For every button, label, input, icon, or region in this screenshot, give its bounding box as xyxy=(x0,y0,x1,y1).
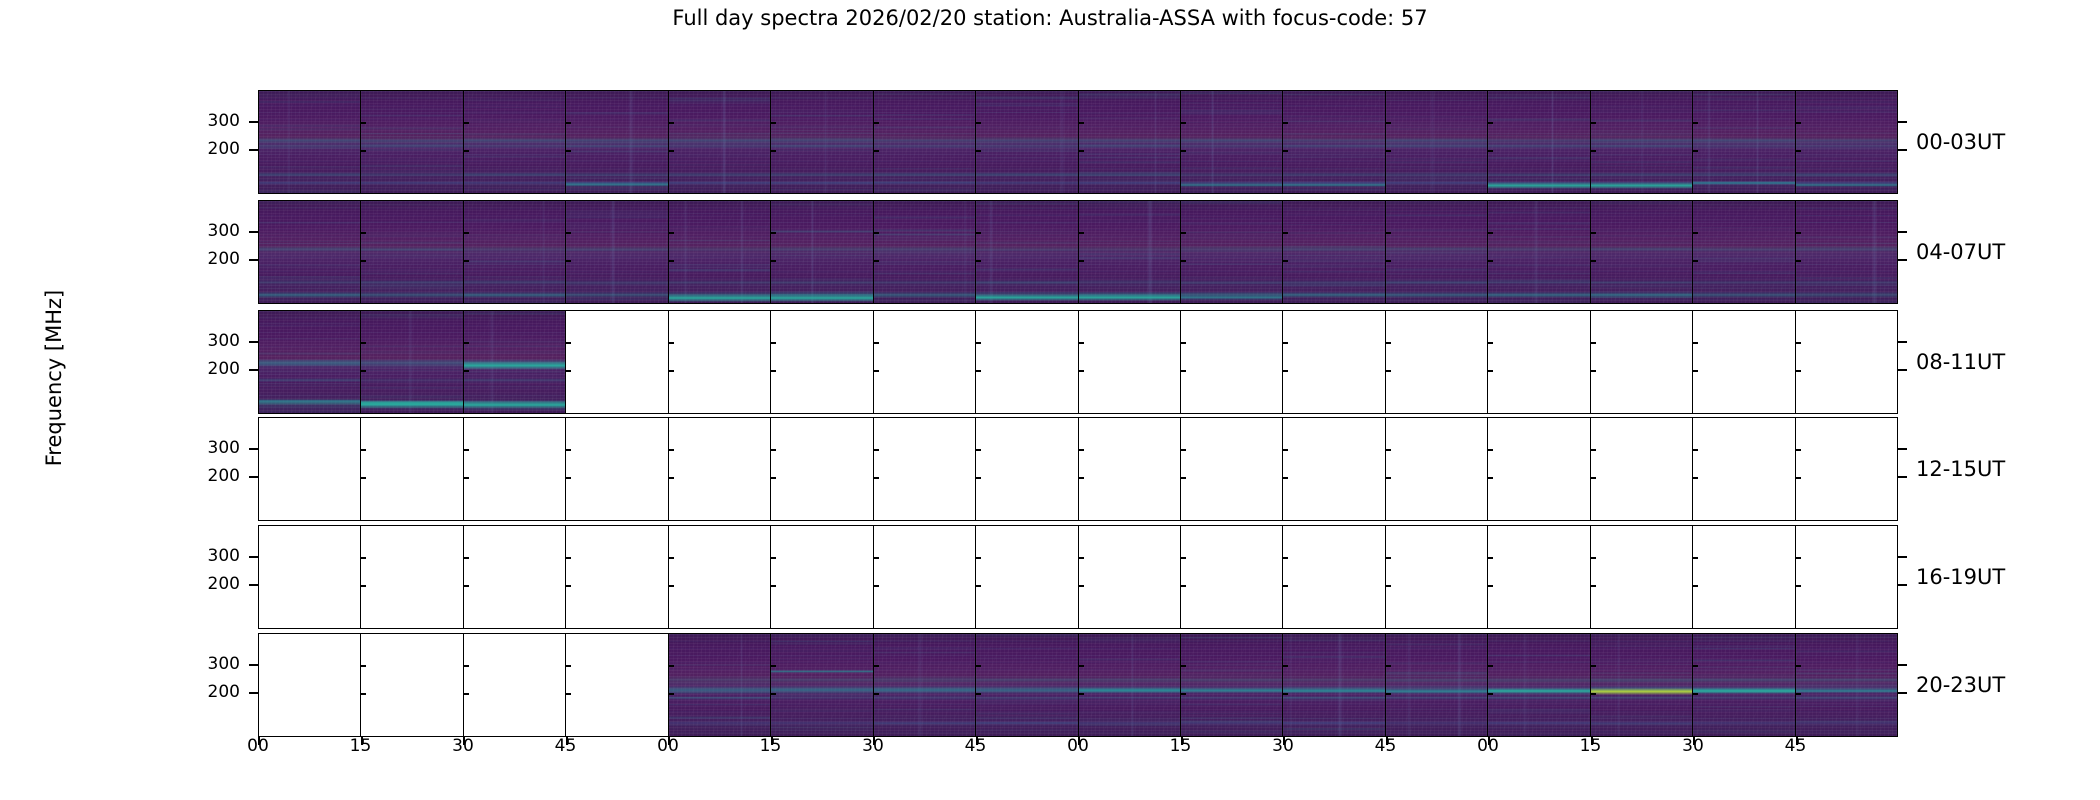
noise-band xyxy=(1796,274,1897,277)
y-tick-inner xyxy=(1283,122,1288,124)
spectrogram-panel xyxy=(1283,634,1385,736)
noise-band xyxy=(1181,703,1282,706)
noise-band xyxy=(669,124,770,126)
y-tick-inner xyxy=(1283,449,1288,451)
y-tick-label: 200 xyxy=(186,249,240,269)
y-tick-inner xyxy=(874,665,879,667)
noise-band xyxy=(1488,701,1589,703)
noise-band xyxy=(874,635,975,638)
noise-band xyxy=(1181,730,1282,732)
y-tick-inner xyxy=(1693,477,1698,479)
noise-band xyxy=(566,216,667,218)
emission-band xyxy=(361,359,462,367)
noise-band xyxy=(464,188,565,191)
noise-band xyxy=(1283,105,1384,107)
emission-band xyxy=(464,280,565,285)
noise-band xyxy=(259,410,360,413)
emission-band xyxy=(1181,280,1282,285)
noise-band xyxy=(1181,218,1282,219)
noise-band xyxy=(259,370,360,373)
x-tick-label: 30 xyxy=(862,736,884,756)
emission-band xyxy=(1796,172,1897,177)
noise-band xyxy=(669,664,770,666)
noise-band xyxy=(1283,94,1384,96)
y-tick-inner xyxy=(976,477,981,479)
spectrogram-panel xyxy=(566,526,668,628)
emission-band xyxy=(874,721,975,725)
noise-band xyxy=(874,126,975,129)
emission-band xyxy=(1079,144,1180,148)
noise-band xyxy=(771,121,872,122)
noise-band xyxy=(1693,219,1794,221)
noise-band xyxy=(1386,268,1487,271)
noise-band xyxy=(259,95,360,97)
noise-band xyxy=(464,238,565,240)
noise-band xyxy=(566,177,667,179)
noise-band xyxy=(1693,706,1794,708)
emission-band xyxy=(1283,677,1384,683)
noise-band xyxy=(464,375,565,377)
noise-band xyxy=(259,325,360,327)
spectrogram-panel xyxy=(1693,526,1795,628)
row-label-6: 20-23UT xyxy=(1916,673,2005,697)
emission-band xyxy=(976,721,1077,725)
y-tick-inner xyxy=(1591,449,1596,451)
emission-band xyxy=(464,246,565,252)
spectrogram-panel xyxy=(1591,311,1693,413)
spectrogram-panel xyxy=(1693,201,1795,303)
noise-band xyxy=(874,114,975,115)
y-tick-inner xyxy=(1283,370,1288,372)
noise-band xyxy=(464,95,565,97)
y-tick-inner xyxy=(1796,260,1801,262)
noise-band xyxy=(1079,637,1180,638)
y-tick-inner xyxy=(464,150,469,152)
row-axes xyxy=(258,90,1898,194)
y-tick-right xyxy=(1898,341,1907,343)
noise-band xyxy=(1591,638,1692,639)
noise-band xyxy=(1386,643,1487,645)
y-tick-label: 300 xyxy=(186,654,240,674)
spectra-image xyxy=(1693,201,1794,303)
y-tick-inner xyxy=(464,557,469,559)
spectrogram-panel xyxy=(1386,201,1488,303)
noise-band xyxy=(464,155,565,157)
noise-band xyxy=(259,148,360,149)
row-label-1: 00-03UT xyxy=(1916,130,2005,154)
spectrogram-panel xyxy=(259,418,361,520)
emission-band xyxy=(1591,721,1692,725)
noise-band xyxy=(1181,203,1282,204)
y-tick-right xyxy=(1898,476,1907,478)
y-tick-inner xyxy=(1693,370,1698,372)
noise-band xyxy=(669,134,770,136)
y-tick-inner xyxy=(464,370,469,372)
emission-band xyxy=(259,359,360,367)
spectrogram-panel xyxy=(1488,526,1590,628)
noise-band xyxy=(976,657,1077,660)
spectrogram-panel xyxy=(464,418,566,520)
noise-band xyxy=(1488,272,1589,275)
noise-band xyxy=(1693,240,1794,243)
emission-band xyxy=(1283,246,1384,252)
y-tick-inner xyxy=(1079,477,1084,479)
noise-band xyxy=(1283,214,1384,215)
spectrogram-panel xyxy=(771,526,873,628)
spectrogram-panel xyxy=(976,634,1078,736)
y-tick-inner xyxy=(1591,232,1596,234)
y-tick-inner xyxy=(669,477,674,479)
emission-band xyxy=(771,696,872,700)
spectra-image xyxy=(1283,201,1384,303)
noise-band xyxy=(1488,661,1589,663)
spectrogram-panel xyxy=(1181,311,1283,413)
noise-band xyxy=(1796,730,1897,732)
noise-band xyxy=(669,704,770,706)
noise-band xyxy=(464,104,565,105)
emission-band xyxy=(669,280,770,285)
noise-band xyxy=(1591,275,1692,277)
y-tick-inner xyxy=(361,150,366,152)
noise-band xyxy=(1488,256,1589,258)
rfi-streak xyxy=(989,201,993,303)
y-tick-inner xyxy=(1181,370,1186,372)
y-tick-inner xyxy=(1386,665,1391,667)
noise-band xyxy=(566,127,667,129)
noise-band xyxy=(1488,207,1589,208)
noise-band xyxy=(874,109,975,110)
spectrogram-panel xyxy=(464,311,566,413)
spectrogram-panel xyxy=(1591,526,1693,628)
noise-band xyxy=(464,107,565,108)
noise-band xyxy=(1386,128,1487,130)
spectrogram-panel xyxy=(1181,526,1283,628)
y-axis-label: Frequency [MHz] xyxy=(42,228,66,528)
noise-band xyxy=(1283,133,1384,135)
noise-band xyxy=(771,643,872,645)
spectrogram-panel xyxy=(1283,311,1385,413)
burst-feature xyxy=(1283,183,1384,187)
burst-feature xyxy=(464,361,565,370)
noise-band xyxy=(1181,660,1282,663)
emission-band xyxy=(874,280,975,285)
y-tick-inner xyxy=(976,260,981,262)
y-tick-inner xyxy=(361,665,366,667)
y-tick-inner xyxy=(1386,150,1391,152)
noise-band xyxy=(874,133,975,135)
y-tick xyxy=(249,584,258,586)
noise-band xyxy=(1386,166,1487,169)
spectra-image xyxy=(874,91,975,193)
y-tick-inner xyxy=(566,150,571,152)
y-tick-inner xyxy=(1283,693,1288,695)
y-tick-inner xyxy=(566,477,571,479)
y-tick-inner xyxy=(1386,370,1391,372)
noise-band xyxy=(1386,100,1487,101)
spectra-image xyxy=(771,91,872,193)
y-tick-inner xyxy=(874,260,879,262)
spectrogram-panel xyxy=(1796,526,1897,628)
burst-feature xyxy=(566,182,667,187)
noise-band xyxy=(464,113,565,115)
emission-band xyxy=(1488,292,1589,298)
noise-band xyxy=(361,127,462,130)
y-tick-inner xyxy=(874,477,879,479)
y-tick-inner xyxy=(464,260,469,262)
noise-band xyxy=(1079,205,1180,207)
noise-band xyxy=(1488,639,1589,642)
spectrogram-panel xyxy=(669,311,771,413)
noise-band xyxy=(1488,276,1589,278)
noise-band xyxy=(259,353,360,356)
spectrogram-panel xyxy=(1386,311,1488,413)
noise-band xyxy=(1181,111,1282,113)
y-tick-inner xyxy=(1591,557,1596,559)
emission-band xyxy=(464,292,565,298)
y-tick-label: 200 xyxy=(186,359,240,379)
noise-band xyxy=(1386,300,1487,302)
y-tick-label: 300 xyxy=(186,438,240,458)
noise-band xyxy=(771,255,872,256)
rfi-streak xyxy=(542,201,546,303)
emission-band xyxy=(874,246,975,252)
noise-band xyxy=(1796,264,1897,265)
spectrogram-panel xyxy=(1591,418,1693,520)
noise-band xyxy=(1386,162,1487,163)
spectrogram-panel xyxy=(976,201,1078,303)
emission-band xyxy=(1693,696,1794,700)
y-tick-inner xyxy=(361,260,366,262)
emission-band xyxy=(669,172,770,177)
emission-band xyxy=(464,181,565,185)
noise-band xyxy=(464,342,565,344)
spectrogram-panel xyxy=(361,526,463,628)
emission-band xyxy=(259,292,360,298)
spectrogram-row-1: 300200 xyxy=(258,90,1898,194)
noise-band xyxy=(874,190,975,193)
noise-band xyxy=(566,112,667,113)
spectrogram-panel xyxy=(259,91,361,193)
noise-band xyxy=(1693,230,1794,232)
noise-band xyxy=(1488,96,1589,99)
spectra-image xyxy=(771,201,872,303)
noise-band xyxy=(259,241,360,242)
noise-band xyxy=(1488,222,1589,224)
spectra-image xyxy=(1283,91,1384,193)
emission-band xyxy=(1181,172,1282,177)
y-tick-inner xyxy=(1693,693,1698,695)
noise-band xyxy=(361,149,462,152)
emission-band xyxy=(1386,144,1487,148)
noise-band xyxy=(874,118,975,120)
spectrogram-panel xyxy=(464,634,566,736)
spectrogram-panel xyxy=(976,526,1078,628)
spectra-image xyxy=(1591,634,1692,736)
noise-band xyxy=(771,114,872,117)
noise-band xyxy=(1386,235,1487,238)
noise-band xyxy=(771,726,872,729)
noise-band xyxy=(259,207,360,208)
y-tick-right xyxy=(1898,121,1907,123)
emission-band xyxy=(1283,280,1384,285)
noise-band xyxy=(874,708,975,710)
y-tick-inner xyxy=(1079,585,1084,587)
noise-band xyxy=(1079,161,1180,164)
noise-band xyxy=(1488,264,1589,267)
noise-band xyxy=(566,273,667,275)
y-tick-inner xyxy=(464,665,469,667)
noise-band xyxy=(361,165,462,168)
spectrogram-panel xyxy=(1283,91,1385,193)
x-tick-label: 45 xyxy=(965,736,987,756)
burst-feature xyxy=(1386,689,1487,694)
y-tick-inner xyxy=(361,477,366,479)
emission-band xyxy=(669,686,770,694)
spectrogram-panel xyxy=(1488,418,1590,520)
noise-band xyxy=(771,189,872,190)
noise-band xyxy=(1386,273,1487,275)
emission-band xyxy=(1693,172,1794,177)
spectra-image xyxy=(361,311,462,413)
y-tick-inner xyxy=(361,232,366,234)
noise-band xyxy=(1079,241,1180,242)
x-tick-label: 00 xyxy=(247,736,269,756)
spectrogram-panel xyxy=(1386,418,1488,520)
noise-band xyxy=(259,384,360,386)
noise-band xyxy=(464,263,565,265)
burst-feature xyxy=(771,294,872,302)
noise-band xyxy=(361,114,462,116)
y-tick-label: 200 xyxy=(186,139,240,159)
noise-band xyxy=(1591,672,1692,674)
noise-band xyxy=(976,729,1077,731)
emission-band xyxy=(1079,246,1180,252)
emission-band xyxy=(464,144,565,148)
emission-band xyxy=(1488,144,1589,148)
noise-band xyxy=(464,111,565,113)
y-tick-inner xyxy=(669,232,674,234)
noise-band xyxy=(1181,191,1282,193)
noise-band xyxy=(669,119,770,122)
emission-band xyxy=(259,181,360,185)
noise-band xyxy=(1693,260,1794,262)
noise-band xyxy=(1181,231,1282,234)
noise-band xyxy=(1693,666,1794,669)
y-tick-right xyxy=(1898,584,1907,586)
noise-band xyxy=(259,166,360,168)
noise-band xyxy=(1488,236,1589,238)
spectra-image xyxy=(1796,634,1897,736)
burst-feature xyxy=(1181,688,1282,693)
emission-band xyxy=(1386,280,1487,285)
noise-band xyxy=(259,406,360,408)
noise-band xyxy=(669,185,770,188)
emission-band xyxy=(1079,677,1180,683)
y-tick-inner xyxy=(1181,342,1186,344)
noise-band xyxy=(1796,207,1897,210)
y-tick-inner xyxy=(1283,150,1288,152)
noise-band xyxy=(1796,222,1897,224)
emission-band xyxy=(1488,696,1589,700)
spectrogram-panel xyxy=(771,311,873,413)
noise-band xyxy=(1181,152,1282,154)
noise-band xyxy=(566,211,667,214)
spectra-image xyxy=(874,201,975,303)
y-tick-label: 200 xyxy=(186,682,240,702)
noise-band xyxy=(1386,203,1487,205)
emission-band xyxy=(874,172,975,177)
spectrogram-panel xyxy=(566,91,668,193)
y-tick-inner xyxy=(464,477,469,479)
y-tick-inner xyxy=(1079,693,1084,695)
spectrogram-panel xyxy=(464,201,566,303)
y-tick xyxy=(249,149,258,151)
spectrogram-panel xyxy=(1283,201,1385,303)
noise-band xyxy=(1796,287,1897,290)
y-tick-inner xyxy=(464,449,469,451)
spectrogram-panel xyxy=(1283,526,1385,628)
x-tick-label: 30 xyxy=(1682,736,1704,756)
y-tick-inner xyxy=(1796,477,1801,479)
y-tick-inner xyxy=(1079,449,1084,451)
noise-band xyxy=(1488,654,1589,657)
y-tick-inner xyxy=(669,665,674,667)
spectra-image xyxy=(669,201,770,303)
noise-band xyxy=(1181,637,1282,639)
y-tick-inner xyxy=(566,585,571,587)
emission-band xyxy=(1796,292,1897,298)
noise-band xyxy=(874,188,975,190)
burst-feature xyxy=(361,400,462,409)
y-tick-inner xyxy=(874,585,879,587)
rfi-streak xyxy=(1147,201,1153,303)
spectrogram-panel xyxy=(1079,526,1181,628)
noise-band xyxy=(976,701,1077,702)
y-tick-inner xyxy=(1181,150,1186,152)
burst-feature xyxy=(669,294,770,302)
y-tick-inner xyxy=(1591,342,1596,344)
noise-band xyxy=(361,286,462,288)
row-label-2: 04-07UT xyxy=(1916,240,2005,264)
y-tick-inner xyxy=(669,260,674,262)
y-tick-inner xyxy=(1079,370,1084,372)
spectrogram-panel xyxy=(976,91,1078,193)
y-tick-right xyxy=(1898,692,1907,694)
spectrogram-panel xyxy=(259,201,361,303)
noise-band xyxy=(361,269,462,271)
noise-band xyxy=(874,648,975,650)
spectrogram-panel xyxy=(1386,526,1488,628)
y-tick-inner xyxy=(1591,122,1596,124)
noise-band xyxy=(1283,656,1384,658)
noise-band xyxy=(361,241,462,244)
spectrogram-panel xyxy=(1591,634,1693,736)
emission-band xyxy=(771,172,872,177)
emission-band xyxy=(1181,144,1282,148)
noise-band xyxy=(1693,659,1794,662)
y-tick-inner xyxy=(1796,585,1801,587)
y-tick-inner xyxy=(1386,557,1391,559)
y-tick-label: 200 xyxy=(186,466,240,486)
spectrogram-panel xyxy=(1693,91,1795,193)
emission-band xyxy=(566,144,667,148)
spectrogram-panel xyxy=(669,201,771,303)
emission-band xyxy=(669,181,770,185)
noise-band xyxy=(874,704,975,705)
spectrogram-panel xyxy=(1796,311,1897,413)
noise-band xyxy=(1693,641,1794,642)
noise-band xyxy=(464,371,565,373)
